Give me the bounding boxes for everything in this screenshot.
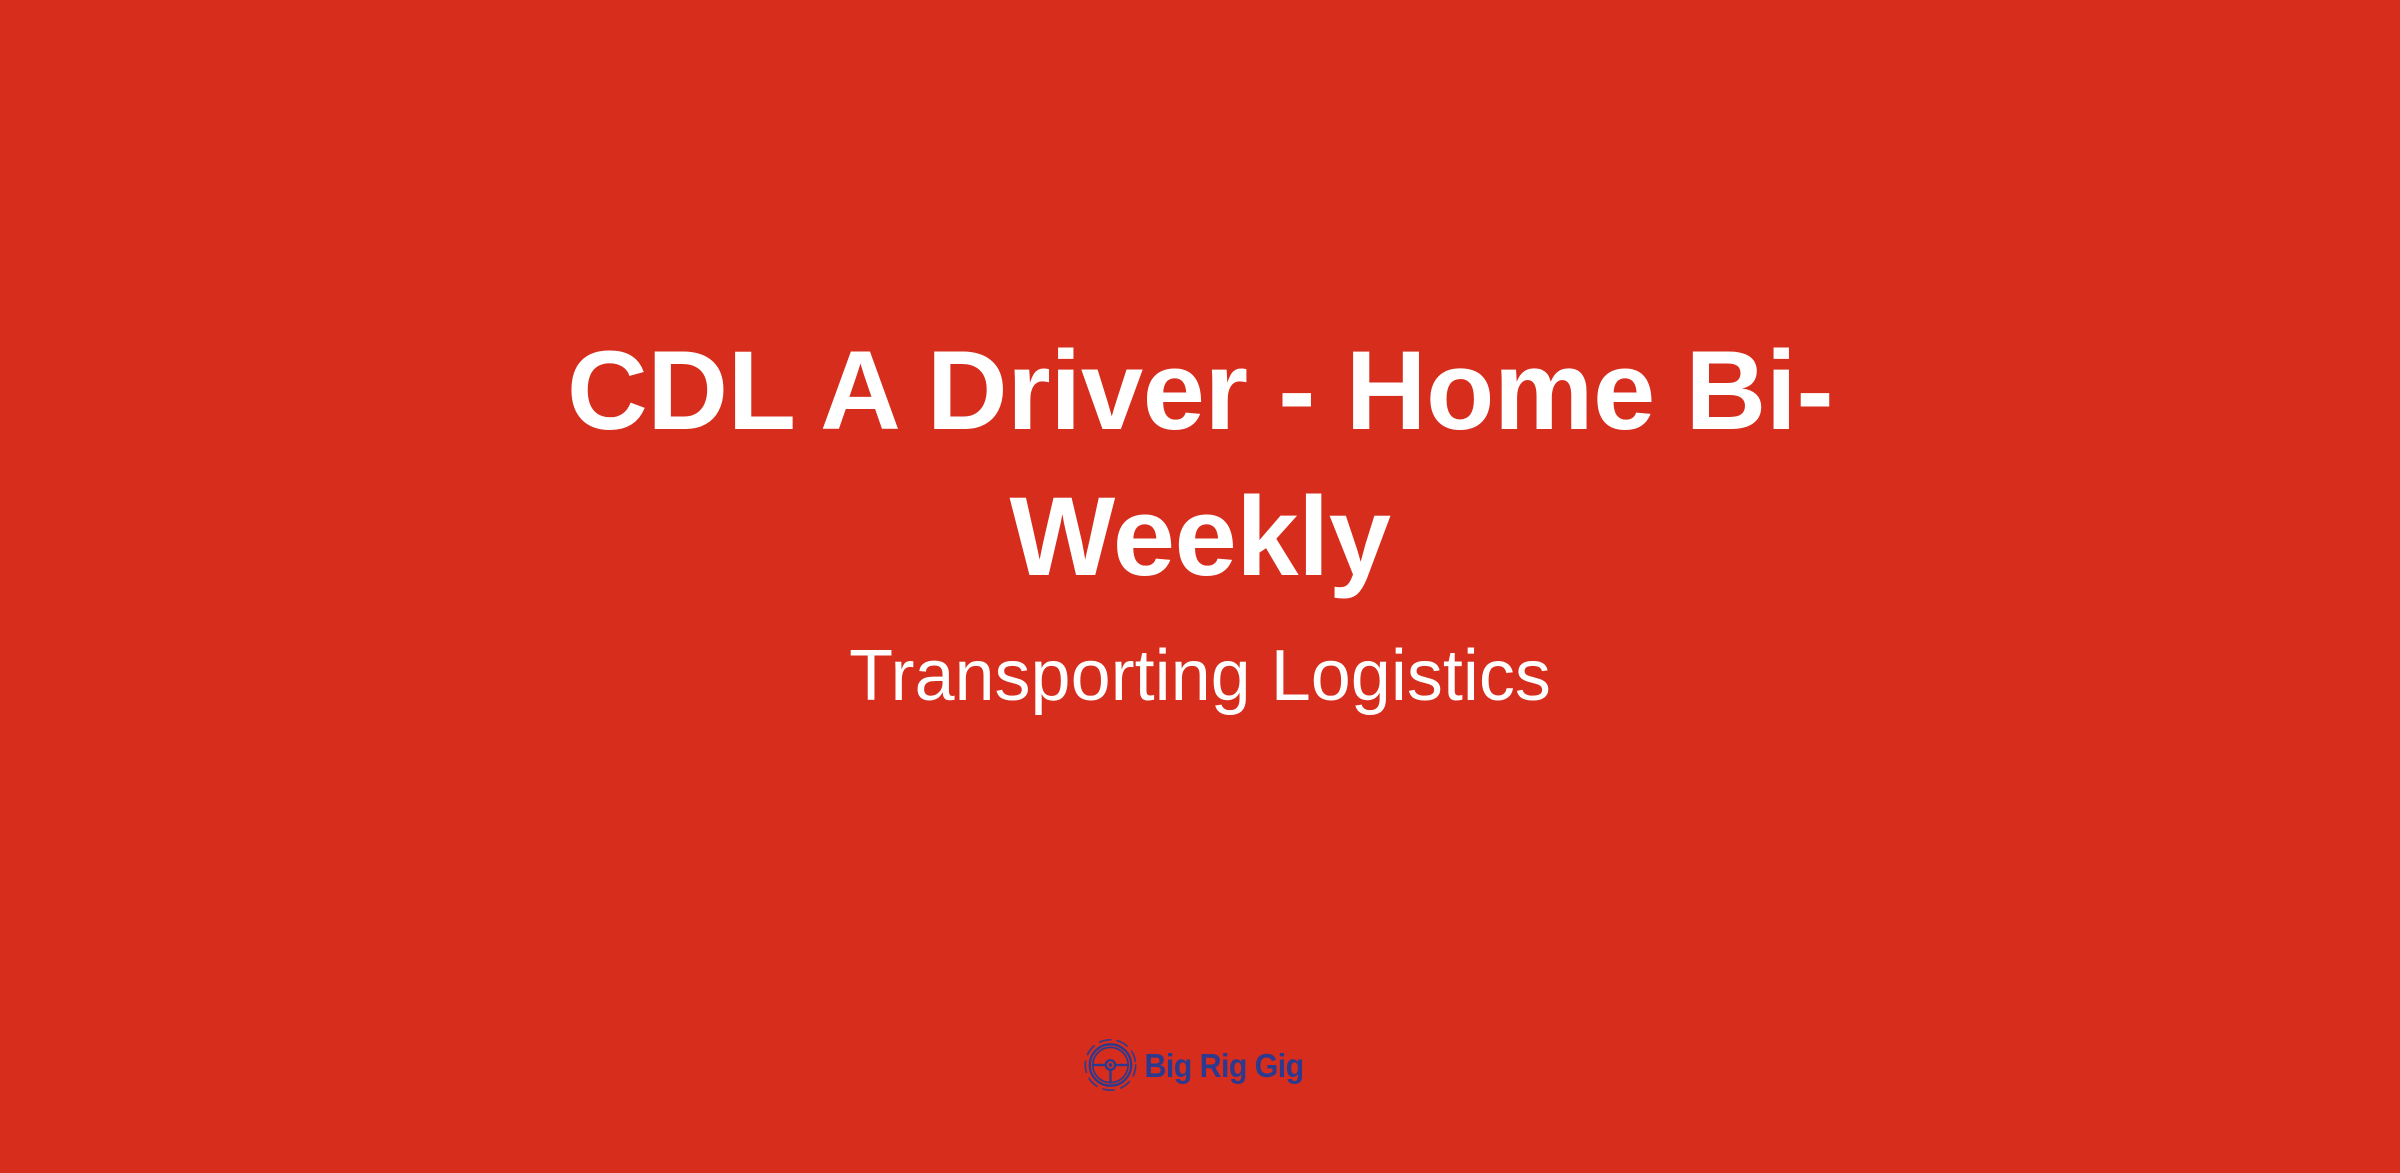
page-title: CDL A Driver - Home Bi-Weekly	[460, 318, 1940, 609]
brand-name-label: Big Rig Gig	[1144, 1049, 1303, 1082]
company-subtitle: Transporting Logistics	[460, 631, 1940, 721]
hero-text-block: CDL A Driver - Home Bi-Weekly Transporti…	[460, 318, 1940, 721]
job-posting-card: CDL A Driver - Home Bi-Weekly Transporti…	[0, 0, 2400, 1173]
steering-wheel-icon	[1082, 1037, 1138, 1093]
brand-logo[interactable]: Big Rig Gig	[1082, 1034, 1317, 1096]
